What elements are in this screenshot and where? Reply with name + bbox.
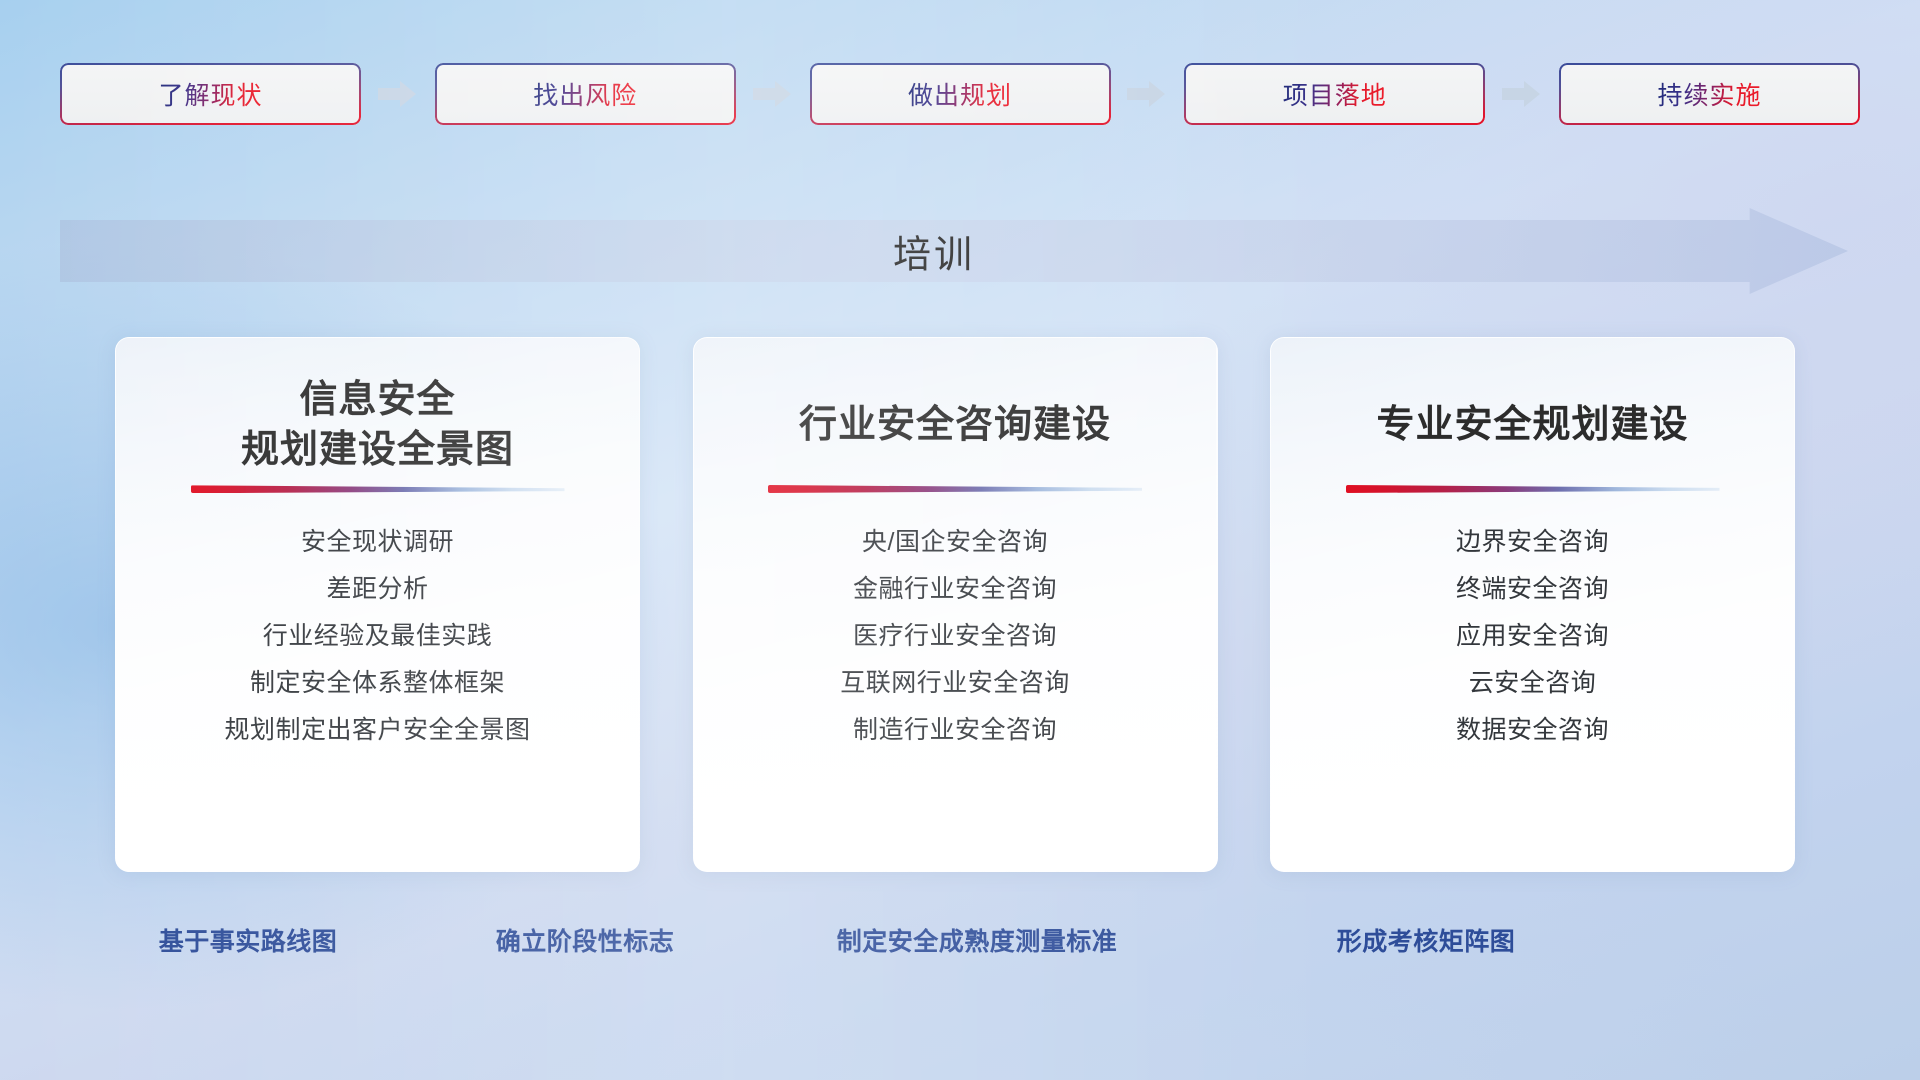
list-item: 应用安全咨询 bbox=[1456, 621, 1609, 651]
card-divider bbox=[768, 485, 1142, 493]
process-step-1[interactable]: 了解现状 bbox=[60, 63, 361, 125]
chevron-right-arrow-icon bbox=[1485, 79, 1559, 109]
outcome-caption: 确立阶段性标志 bbox=[496, 922, 675, 958]
capability-card-row: 信息安全 规划建设全景图 安全现状调研 差距分析 行业经验及最佳实践 制定安全体… bbox=[115, 337, 1795, 872]
capability-card-3[interactable]: 专业安全规划建设 边界安全咨询 终端安全咨询 应用安全咨询 云安全咨询 数据安全… bbox=[1270, 337, 1795, 872]
process-step-label: 找出风险 bbox=[533, 76, 637, 112]
slide-canvas: 了解现状 找出风险 做出规划 项目落地 bbox=[0, 0, 1920, 1080]
card-title: 行业安全咨询建设 bbox=[799, 375, 1111, 475]
list-item: 央/国企安全咨询 bbox=[862, 527, 1048, 557]
list-item: 安全现状调研 bbox=[301, 527, 454, 557]
list-item: 制定安全体系整体框架 bbox=[250, 668, 505, 698]
process-step-4[interactable]: 项目落地 bbox=[1184, 63, 1485, 125]
list-item: 规划制定出客户安全全景图 bbox=[224, 715, 530, 745]
card-divider bbox=[191, 485, 565, 493]
list-item: 数据安全咨询 bbox=[1456, 715, 1609, 745]
list-item: 云安全咨询 bbox=[1469, 668, 1597, 698]
card-item-list: 边界安全咨询 终端安全咨询 应用安全咨询 云安全咨询 数据安全咨询 bbox=[1456, 527, 1609, 745]
list-item: 医疗行业安全咨询 bbox=[853, 621, 1057, 651]
process-step-label: 了解现状 bbox=[158, 76, 262, 112]
card-item-list: 安全现状调研 差距分析 行业经验及最佳实践 制定安全体系整体框架 规划制定出客户… bbox=[224, 527, 530, 745]
process-step-2[interactable]: 找出风险 bbox=[435, 63, 736, 125]
process-step-row: 了解现状 找出风险 做出规划 项目落地 bbox=[60, 63, 1860, 125]
card-title: 专业安全规划建设 bbox=[1376, 375, 1688, 475]
outcome-caption-row: 基于事实路线图 确立阶段性标志 制定安全成熟度测量标准 形成考核矩阵图 bbox=[0, 922, 1920, 962]
list-item: 制造行业安全咨询 bbox=[853, 715, 1057, 745]
list-item: 互联网行业安全咨询 bbox=[840, 668, 1070, 698]
outcome-caption: 基于事实路线图 bbox=[159, 922, 338, 958]
process-step-label: 持续实施 bbox=[1657, 76, 1761, 112]
process-step-3[interactable]: 做出规划 bbox=[810, 63, 1111, 125]
list-item: 行业经验及最佳实践 bbox=[263, 621, 493, 651]
card-item-list: 央/国企安全咨询 金融行业安全咨询 医疗行业安全咨询 互联网行业安全咨询 制造行… bbox=[840, 527, 1070, 745]
card-title: 信息安全 规划建设全景图 bbox=[241, 375, 514, 475]
chevron-right-arrow-icon bbox=[1111, 79, 1185, 109]
outcome-caption: 形成考核矩阵图 bbox=[1337, 922, 1516, 958]
card-divider bbox=[1346, 485, 1720, 493]
capability-card-2[interactable]: 行业安全咨询建设 央/国企安全咨询 金融行业安全咨询 医疗行业安全咨询 互联网行… bbox=[693, 337, 1218, 872]
training-banner: 培训 bbox=[60, 208, 1848, 294]
chevron-right-arrow-icon bbox=[361, 79, 435, 109]
process-step-label: 做出规划 bbox=[908, 76, 1012, 112]
training-banner-title: 培训 bbox=[60, 224, 1848, 279]
capability-card-1[interactable]: 信息安全 规划建设全景图 安全现状调研 差距分析 行业经验及最佳实践 制定安全体… bbox=[115, 337, 640, 872]
process-step-5[interactable]: 持续实施 bbox=[1559, 63, 1860, 125]
process-step-label: 项目落地 bbox=[1283, 76, 1387, 112]
list-item: 终端安全咨询 bbox=[1456, 574, 1609, 604]
outcome-caption: 制定安全成熟度测量标准 bbox=[837, 922, 1118, 958]
list-item: 边界安全咨询 bbox=[1456, 527, 1609, 557]
list-item: 差距分析 bbox=[326, 574, 428, 604]
chevron-right-arrow-icon bbox=[736, 79, 810, 109]
list-item: 金融行业安全咨询 bbox=[853, 574, 1057, 604]
